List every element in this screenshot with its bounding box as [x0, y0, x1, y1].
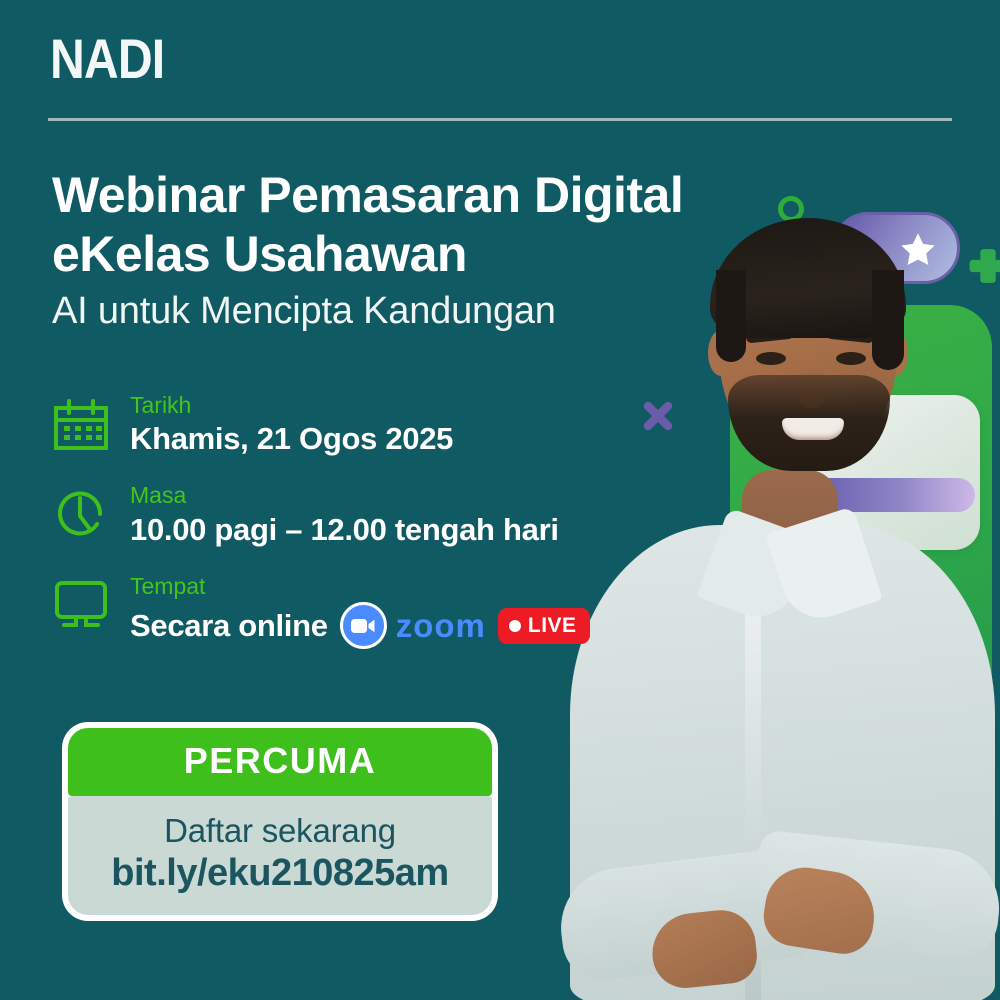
registration-card[interactable]: PERCUMA Daftar sekarang bit.ly/eku210825… — [62, 722, 498, 921]
registration-body: Daftar sekarang bit.ly/eku210825am — [68, 796, 492, 915]
detail-row-venue: Tempat Secara online zoom — [52, 573, 692, 649]
detail-value-venue-group: Secara online zoom LIVE — [130, 602, 590, 649]
presenter-nose — [798, 366, 826, 408]
event-details: Tarikh Khamis, 21 Ogos 2025 Masa 10.00 p… — [52, 392, 692, 674]
free-badge: PERCUMA — [68, 728, 492, 796]
monitor-icon — [52, 573, 130, 631]
live-label: LIVE — [528, 614, 577, 638]
headline-line-2: eKelas Usahawan — [52, 226, 752, 282]
zoom-wordmark: zoom — [396, 607, 486, 645]
detail-value-date: Khamis, 21 Ogos 2025 — [130, 421, 453, 457]
detail-row-time: Masa 10.00 pagi – 12.00 tengah hari — [52, 482, 692, 547]
detail-text-date: Tarikh Khamis, 21 Ogos 2025 — [130, 392, 453, 457]
headline-line-1: Webinar Pemasaran Digital — [52, 168, 752, 222]
clock-icon — [52, 482, 130, 544]
detail-label-venue: Tempat — [130, 573, 590, 599]
header-divider — [48, 118, 952, 121]
registration-url[interactable]: bit.ly/eku210825am — [68, 852, 492, 895]
calendar-icon — [52, 392, 130, 452]
live-badge: LIVE — [498, 608, 590, 644]
presenter-eye-right — [836, 352, 866, 365]
detail-value-time: 10.00 pagi – 12.00 tengah hari — [130, 512, 559, 548]
headline-block: Webinar Pemasaran Digital eKelas Usahawa… — [52, 168, 752, 333]
detail-label-time: Masa — [130, 482, 559, 508]
detail-label-date: Tarikh — [130, 392, 453, 418]
headline-subtitle: AI untuk Mencipta Kandungan — [52, 290, 752, 333]
nadi-logo: NADI — [50, 26, 164, 91]
webinar-poster: NADI Webinar Pemasaran Digital eKelas Us… — [0, 0, 1000, 1000]
free-badge-label: PERCUMA — [68, 740, 492, 782]
presenter-eye-left — [756, 352, 786, 365]
detail-row-date: Tarikh Khamis, 21 Ogos 2025 — [52, 392, 692, 457]
register-prompt: Daftar sekarang — [68, 812, 492, 850]
zoom-camera-icon — [340, 602, 387, 649]
presenter-mouth — [782, 418, 844, 440]
detail-value-venue: Secara online — [130, 608, 328, 644]
live-dot-icon — [509, 620, 521, 632]
detail-text-time: Masa 10.00 pagi – 12.00 tengah hari — [130, 482, 559, 547]
detail-text-venue: Tempat Secara online zoom — [130, 573, 590, 649]
zoom-logo: zoom — [340, 602, 486, 649]
